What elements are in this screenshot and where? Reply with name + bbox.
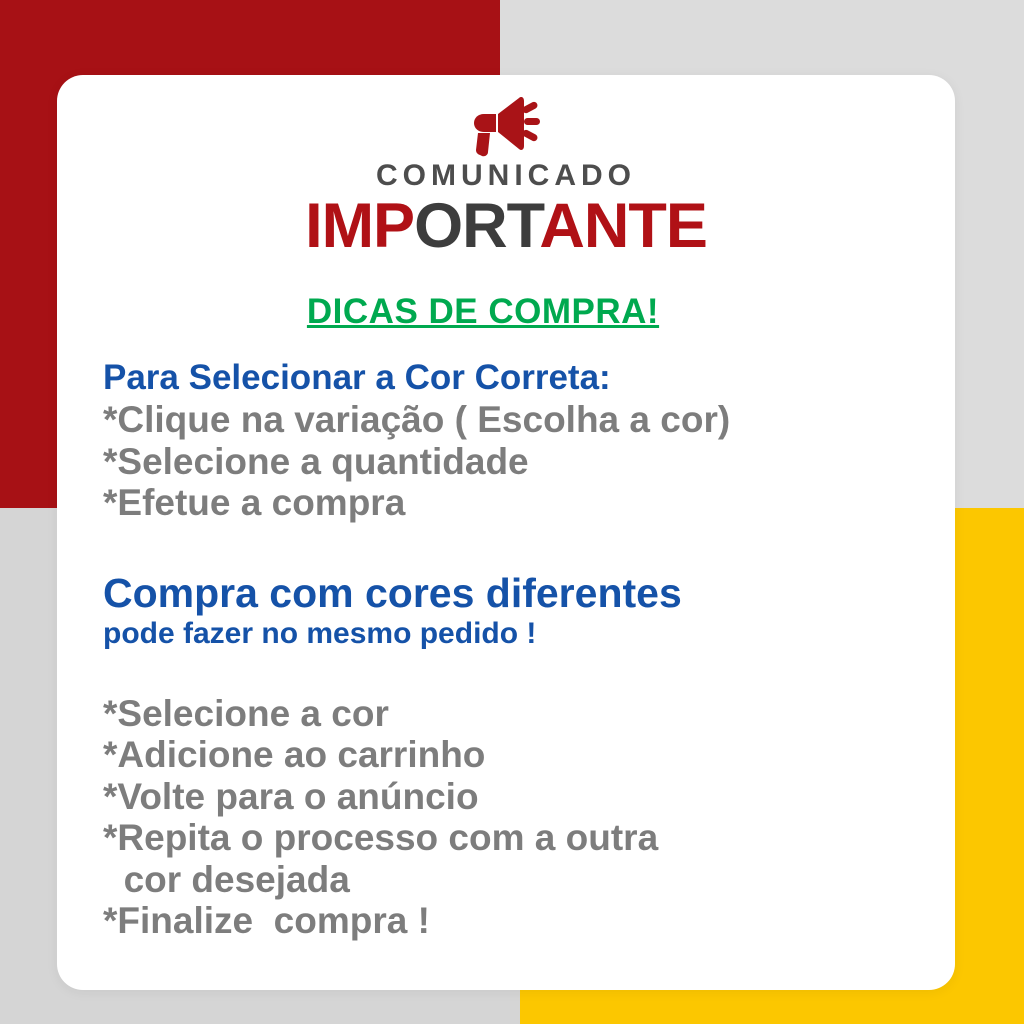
header-kicker: COMUNICADO — [57, 159, 955, 193]
list-item: *Volte para o anúncio — [103, 776, 955, 817]
section-selecionar-cor: Para Selecionar a Cor Correta: *Clique n… — [103, 358, 955, 524]
list-item: *Finalize compra ! — [103, 900, 955, 941]
section-passos: *Selecione a cor *Adicione ao carrinho *… — [103, 693, 955, 942]
page-subtitle: DICAS DE COMPRA! — [57, 292, 955, 332]
section-subheading: pode fazer no mesmo pedido ! — [103, 617, 955, 652]
header-title-part3: ANTE — [539, 191, 707, 261]
header-title-part2: ORT — [414, 191, 539, 261]
list-item: *Adicione ao carrinho — [103, 734, 955, 775]
header-title-part1: IMP — [305, 191, 414, 261]
section-heading: Compra com cores diferentes — [103, 572, 955, 615]
section-cores-diferentes: Compra com cores diferentes pode fazer n… — [103, 572, 955, 652]
list-item: *Clique na variação ( Escolha a cor) — [103, 399, 955, 440]
header-title: IMPORTANTE — [57, 195, 955, 258]
section-heading: Para Selecionar a Cor Correta: — [103, 358, 955, 397]
megaphone-icon — [57, 91, 955, 163]
announcement-card: COMUNICADO IMPORTANTE DICAS DE COMPRA! P… — [57, 75, 955, 990]
card-body: Para Selecionar a Cor Correta: *Clique n… — [57, 358, 955, 942]
list-item: *Repita o processo com a outra cor desej… — [103, 817, 955, 900]
card-header: COMUNICADO IMPORTANTE — [57, 75, 955, 258]
list-item: *Selecione a quantidade — [103, 441, 955, 482]
list-item: *Selecione a cor — [103, 693, 955, 734]
list-item: *Efetue a compra — [103, 482, 955, 523]
